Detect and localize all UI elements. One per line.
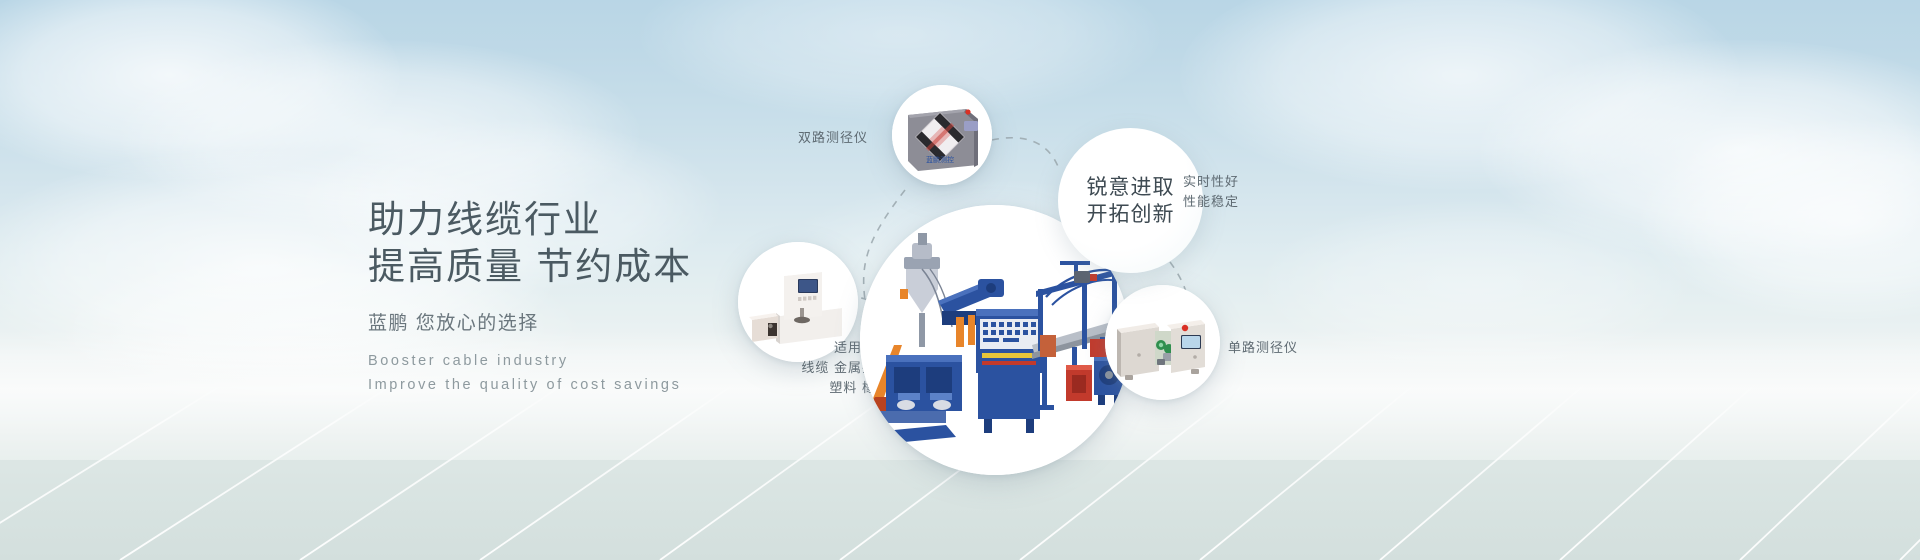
label-features-line-2: 性能稳定 bbox=[1183, 192, 1239, 212]
product-bubble-dual-gauge[interactable]: 蓝鹏测控 bbox=[892, 85, 992, 185]
label-single-gauge: 单路测径仪 bbox=[1228, 338, 1298, 358]
slogan-line-1: 锐意进取 bbox=[1087, 174, 1175, 201]
label-features-line-1: 实时性好 bbox=[1183, 172, 1239, 192]
slogan-bubble: 锐意进取 开拓创新 bbox=[1058, 128, 1203, 273]
hero-banner: 助力线缆行业 提高质量 节约成本 蓝鹏 您放心的选择 Booster cable… bbox=[0, 0, 1920, 560]
label-features: 实时性好 性能稳定 bbox=[1183, 172, 1239, 212]
product-composition: 蓝鹏测控 双路测径仪 bbox=[700, 0, 1920, 560]
label-dual-gauge: 双路测径仪 bbox=[798, 128, 868, 148]
single-diameter-gauge-icon bbox=[1105, 285, 1220, 400]
slogan-line-2: 开拓创新 bbox=[1087, 201, 1175, 228]
device-brand-label: 蓝鹏测控 bbox=[926, 155, 954, 164]
product-bubble-single-gauge[interactable] bbox=[1105, 285, 1220, 400]
dual-diameter-gauge-icon: 蓝鹏测控 bbox=[892, 85, 992, 185]
